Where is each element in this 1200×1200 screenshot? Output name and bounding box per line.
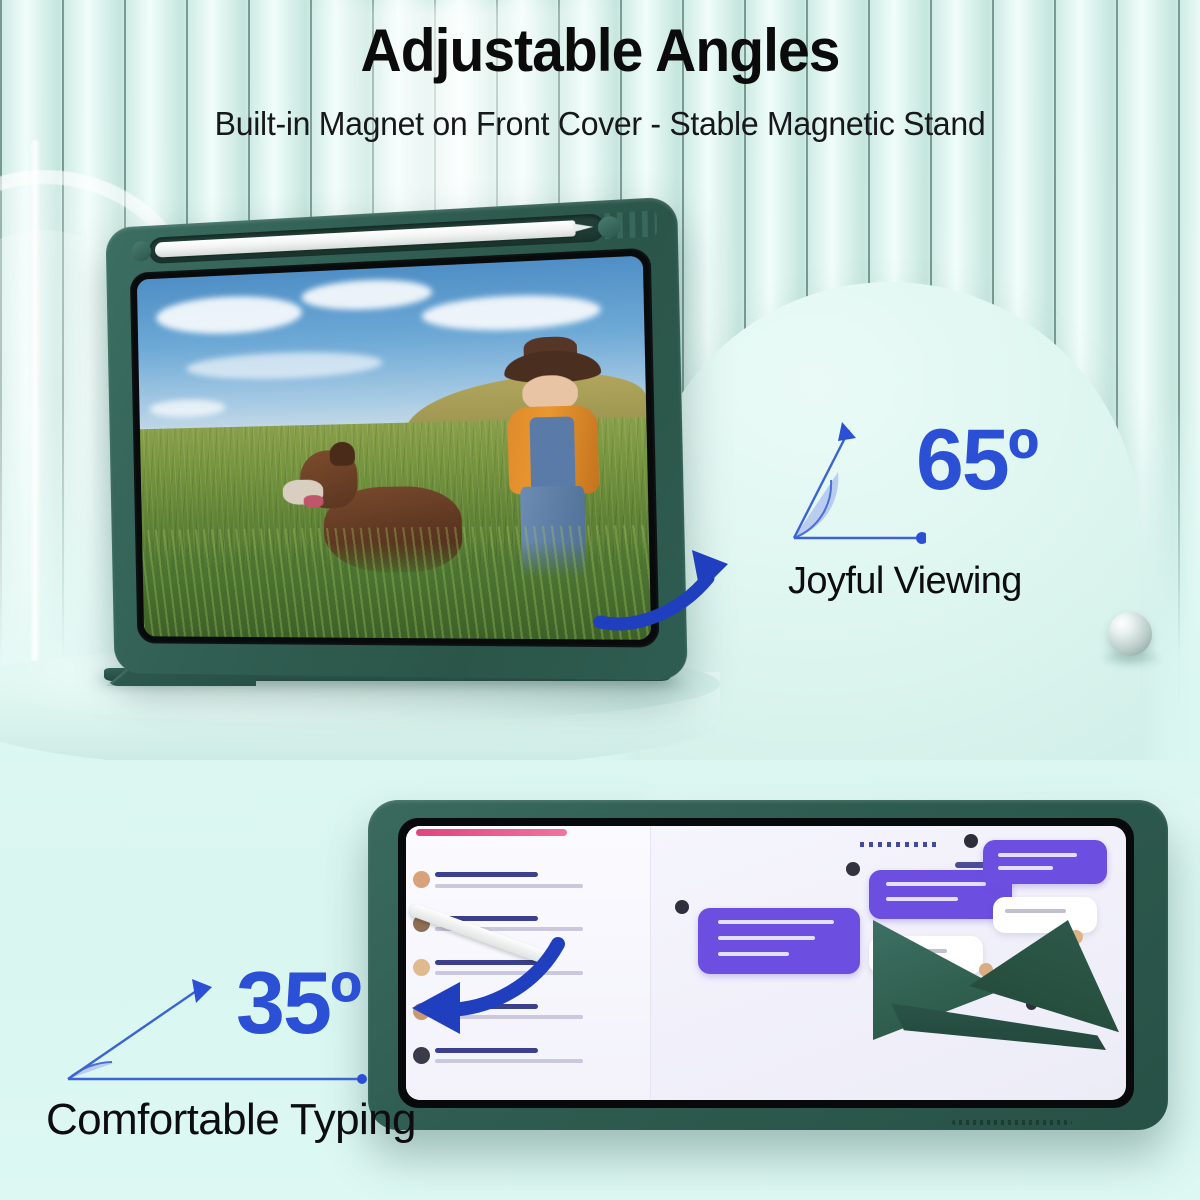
page-title: Adjustable Angles [30,16,1170,85]
avatar [675,900,689,914]
bubble-text-line [1005,909,1066,913]
contact-name [435,872,538,877]
angle-65-caption: Joyful Viewing [788,560,1022,603]
glass-rod [30,140,40,700]
avatar [964,834,978,848]
bubble-text-line [998,866,1052,870]
origami-stand [873,920,1113,1050]
angle-35-value: 35º [236,963,360,1042]
screen-bezel [130,248,660,648]
boy-denim-overalls [530,416,576,494]
angle-65-value: 65º [916,422,1037,499]
chat-menu-icon[interactable] [860,842,936,847]
contact-name [435,1048,538,1053]
tablet-screen-photo [137,256,651,640]
page-subtitle: Built-in Magnet on Front Cover - Stable … [18,105,1182,143]
bubble-text-line [718,936,815,940]
bubble-text-line [886,897,957,901]
silver-sphere [1108,612,1152,656]
bubble-text-line [886,882,986,886]
avatar [413,871,430,888]
angle-65-icon [776,408,926,558]
dog-ear [329,442,355,466]
message-bubble-outgoing [698,908,860,974]
bubble-text-line [998,853,1077,857]
message-bubble-outgoing [983,840,1107,884]
bubble-text-line [718,920,834,924]
photo-foreground-grass-texture [142,524,651,639]
dog-tongue [304,495,324,507]
curved-arrow-down-left-icon [388,938,568,1048]
avatar [846,862,860,876]
list-item[interactable] [413,864,637,908]
chat-app-logo [416,829,567,836]
product-scene: Adjustable Angles Built-in Magnet on Fro… [0,0,1200,1200]
contact-preview [435,1059,583,1063]
angle-35-caption: Comfortable Typing [46,1095,416,1145]
bubble-text-line [718,952,789,956]
contact-preview [435,884,583,888]
angle-35-block: 35º Comfortable Typing [60,955,440,1160]
angle-65-block: 65º Joyful Viewing [782,400,1082,630]
curved-arrow-up-right-icon [596,538,756,648]
speaker-grille [952,1120,1072,1125]
